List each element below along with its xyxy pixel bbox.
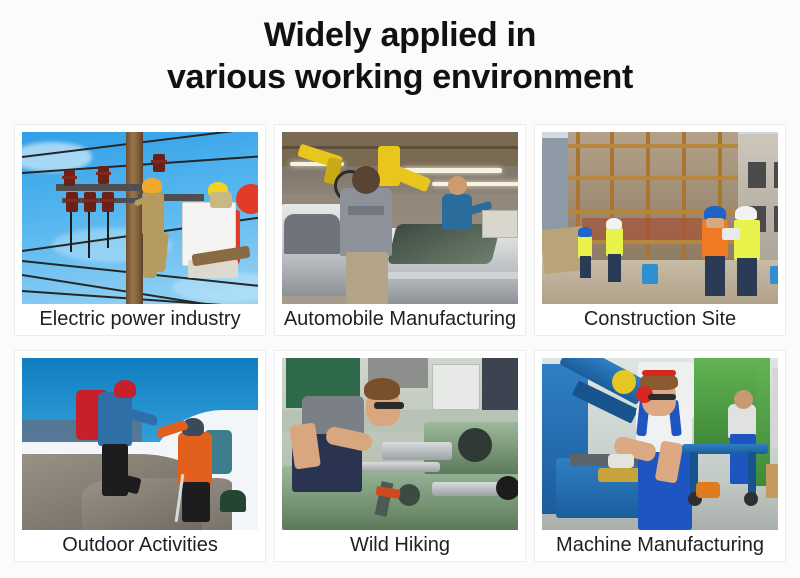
card-image-wild-hiking [282,358,518,530]
card-wild-hiking[interactable]: Wild Hiking [274,350,526,562]
card-outdoor-activities[interactable]: Outdoor Activities [14,350,266,562]
card-caption-construction-site: Construction Site [542,304,778,335]
card-caption-electric-power-industry: Electric power industry [22,304,258,335]
page-root: Widely applied in various working enviro… [0,0,800,578]
card-image-electric-power-industry [22,132,258,304]
card-construction-site[interactable]: Construction Site [534,124,786,336]
page-title-line-2: various working environment [0,56,800,98]
card-image-construction-site [542,132,778,304]
card-caption-automobile-manufacturing: Automobile Manufacturing [282,304,518,335]
card-caption-outdoor-activities: Outdoor Activities [22,530,258,561]
card-electric-power-industry[interactable]: Electric power industry [14,124,266,336]
card-image-automobile-manufacturing [282,132,518,304]
application-grid: Electric power industry [14,124,786,562]
card-machine-manufacturing[interactable]: Machine Manufacturing [534,350,786,562]
card-image-outdoor-activities [22,358,258,530]
card-image-machine-manufacturing [542,358,778,530]
card-caption-machine-manufacturing: Machine Manufacturing [542,530,778,561]
page-title-line-1: Widely applied in [0,14,800,56]
card-automobile-manufacturing[interactable]: Automobile Manufacturing [274,124,526,336]
card-caption-wild-hiking: Wild Hiking [282,530,518,561]
page-title: Widely applied in various working enviro… [0,14,800,98]
